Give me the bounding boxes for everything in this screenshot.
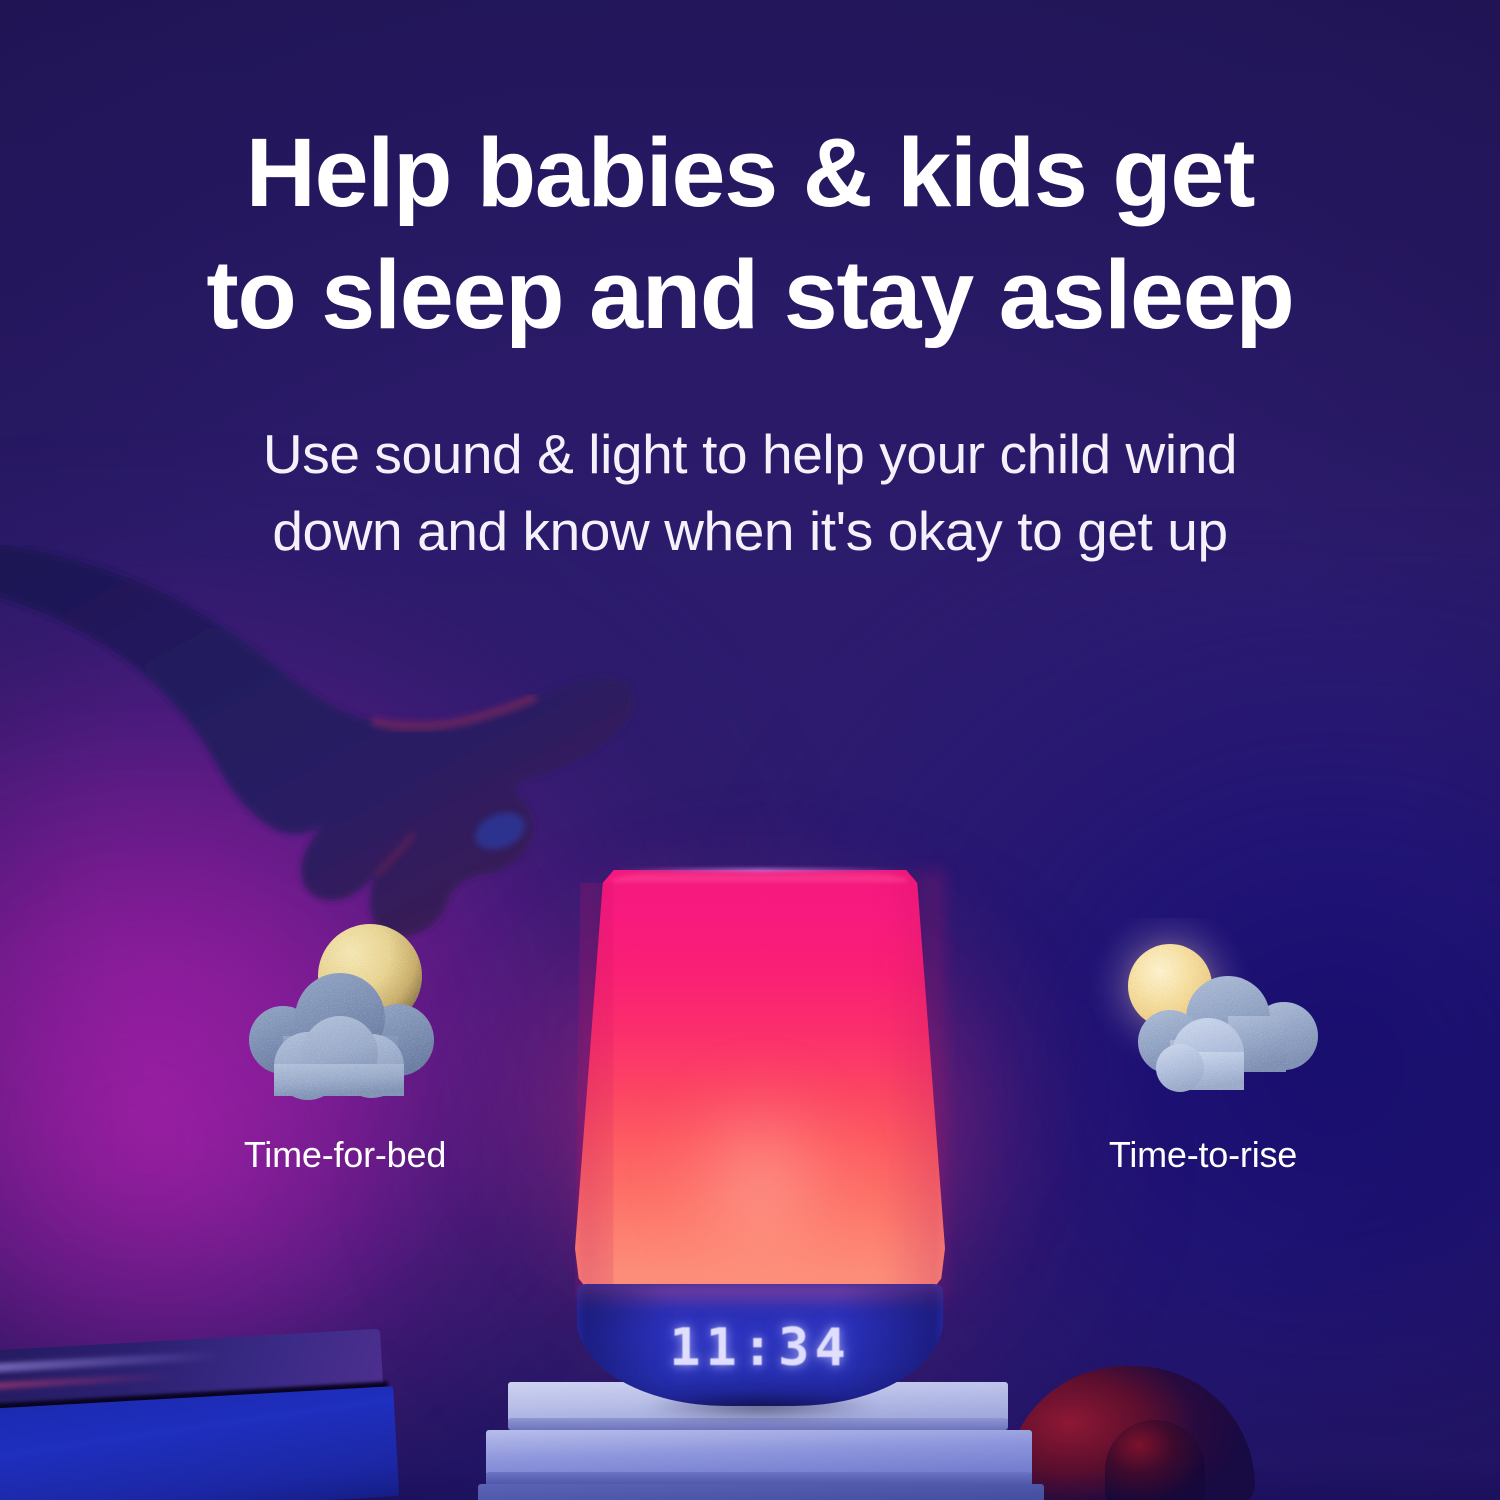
headline-line-1: Help babies & kids get (0, 112, 1500, 234)
lamp-contact-shadow (600, 1392, 920, 1420)
headline-line-2: to sleep and stay asleep (0, 234, 1500, 356)
page-title: Help babies & kids get to sleep and stay… (0, 0, 1500, 356)
books-stack-left (0, 1328, 399, 1500)
feature-time-to-rise: Time-to-rise (1058, 918, 1348, 1176)
moon-behind-clouds-icon (230, 918, 460, 1108)
plinth-book-2 (486, 1430, 1032, 1476)
book-title-blur (0, 1351, 221, 1374)
lamp-base[interactable]: 11:34 (577, 1284, 943, 1406)
feature-time-for-bed: Time-for-bed (205, 918, 485, 1176)
feature-caption: Time-for-bed (205, 1134, 485, 1176)
night-light-device[interactable]: 11:34 (560, 852, 960, 1412)
clock-display: 11:34 (577, 1318, 943, 1378)
lamp-top-seam (616, 868, 904, 872)
page-subtitle: Use sound & light to help your child win… (0, 356, 1500, 570)
lamp-inner-bloom (630, 1002, 892, 1302)
sun-behind-clouds-icon (1088, 918, 1318, 1108)
subhead-line-1: Use sound & light to help your child win… (0, 416, 1500, 493)
marketing-copy: Help babies & kids get to sleep and stay… (0, 0, 1500, 570)
feature-caption: Time-to-rise (1058, 1134, 1348, 1176)
subhead-line-2: down and know when it's okay to get up (0, 493, 1500, 570)
plinth-book-3 (478, 1484, 1044, 1500)
book-subtitle-blur (0, 1372, 174, 1390)
